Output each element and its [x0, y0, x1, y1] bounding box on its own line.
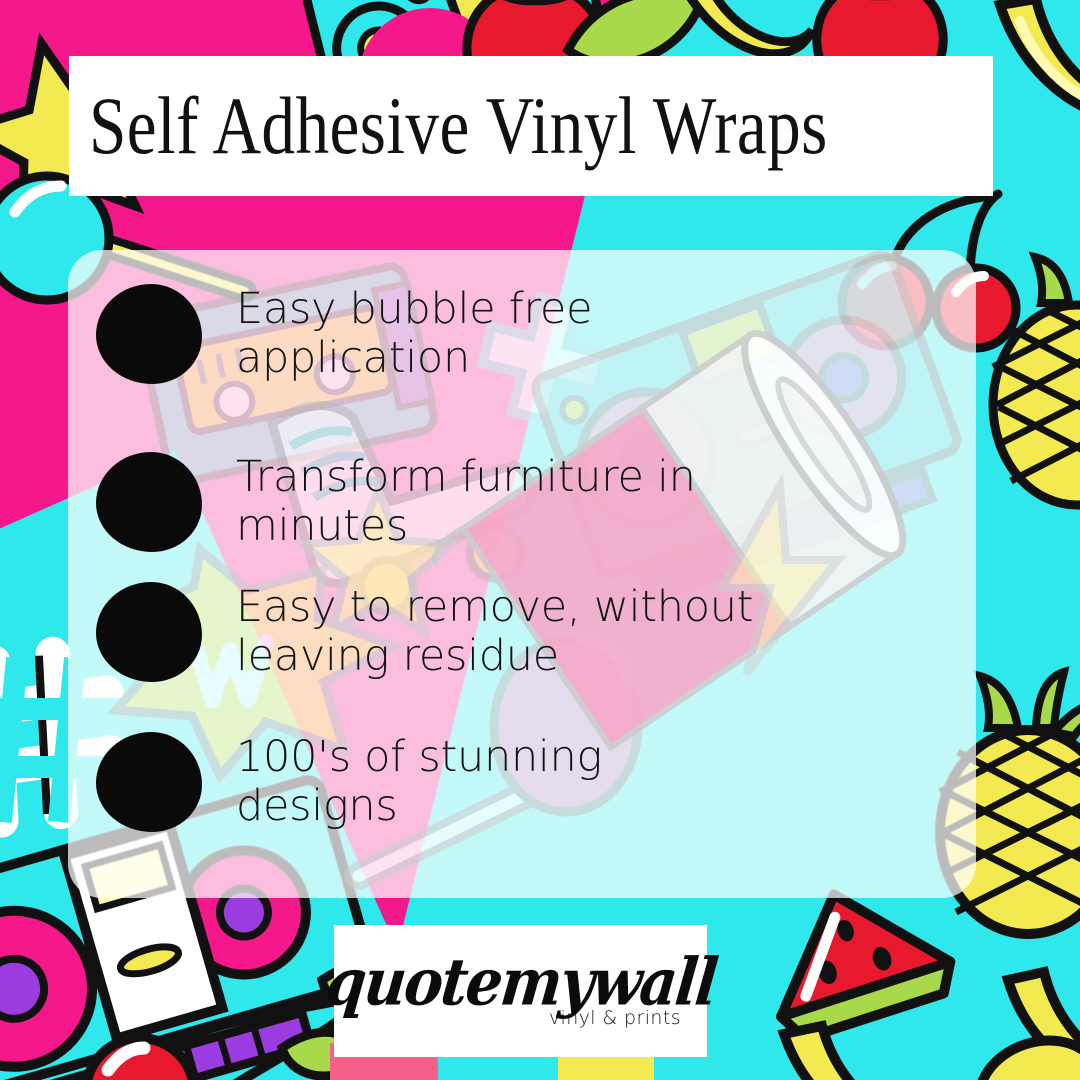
- list-item: Easy bubble free application: [96, 284, 956, 384]
- bullet-dot-icon: [96, 452, 202, 552]
- feature-list: Easy bubble free application Transform f…: [96, 272, 956, 872]
- feature-label: 100's of stunning designs: [236, 733, 602, 830]
- brand-wordmark: quotemywall: [322, 950, 719, 1015]
- feature-label: Easy to remove, without leaving residue: [236, 583, 753, 680]
- feature-label: Easy bubble free application: [236, 285, 592, 382]
- list-item: Transform furniture in minutes: [96, 452, 956, 552]
- brand-logo-plate: quotemywall vinyl & prints: [334, 925, 707, 1057]
- poster-canvas: Self Adhesive Vinyl Wraps Easy bubble fr…: [0, 0, 1080, 1080]
- banana-icon: [980, 0, 1080, 185]
- list-item: Easy to remove, without leaving residue: [96, 582, 956, 682]
- title-band: Self Adhesive Vinyl Wraps: [69, 56, 993, 196]
- list-item: 100's of stunning designs: [96, 732, 956, 832]
- page-title: Self Adhesive Vinyl Wraps: [89, 85, 828, 167]
- bullet-dot-icon: [96, 284, 202, 384]
- feature-label: Transform furniture in minutes: [236, 453, 696, 550]
- banana-icon: [760, 1000, 990, 1080]
- pineapple-icon: [985, 255, 1080, 505]
- lemon-icon: [960, 1020, 1080, 1080]
- bullet-dot-icon: [96, 582, 202, 682]
- bullet-dot-icon: [96, 732, 202, 832]
